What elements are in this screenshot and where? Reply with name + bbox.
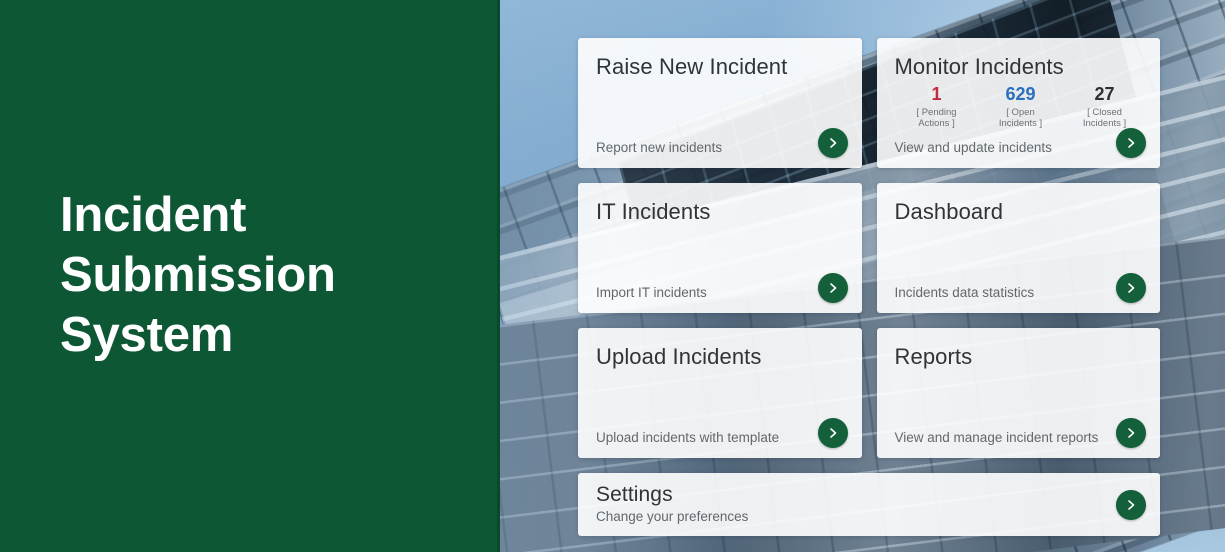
card-title: Raise New Incident	[596, 54, 844, 79]
card-action-button[interactable]	[818, 273, 848, 303]
stat-label: [ Pending Actions ]	[895, 107, 979, 129]
card-title: IT Incidents	[596, 199, 844, 224]
card-action-button[interactable]	[818, 128, 848, 158]
card-subtitle: Change your preferences	[596, 509, 1142, 525]
card-subtitle: Upload incidents with template	[596, 430, 804, 446]
card-footer: View and update incidents	[895, 140, 1103, 156]
card-row: Settings Change your preferences	[578, 473, 1160, 536]
card-title: Upload Incidents	[596, 344, 844, 369]
brand-panel: Incident Submission System	[0, 0, 500, 552]
card-footer: View and manage incident reports	[895, 430, 1103, 446]
stat-label: [ Open Incidents ]	[979, 107, 1063, 129]
card-subtitle: View and update incidents	[895, 140, 1103, 156]
card-action-button[interactable]	[1116, 273, 1146, 303]
card-row: Raise New Incident Report new incidents …	[578, 38, 1160, 168]
incident-stats: 1 [ Pending Actions ] 629 [ Open Inciden…	[895, 85, 1147, 129]
stat-pending-actions: 1 [ Pending Actions ]	[895, 85, 979, 129]
chevron-right-icon	[1124, 136, 1138, 150]
card-it-incidents[interactable]: IT Incidents Import IT incidents	[578, 183, 862, 313]
card-title: Dashboard	[895, 199, 1143, 224]
card-action-button[interactable]	[1116, 490, 1146, 520]
card-upload-incidents[interactable]: Upload Incidents Upload incidents with t…	[578, 328, 862, 458]
card-footer: Incidents data statistics	[895, 285, 1103, 301]
card-subtitle: Incidents data statistics	[895, 285, 1103, 301]
chevron-right-icon	[826, 136, 840, 150]
stat-label: [ Closed Incidents ]	[1063, 107, 1147, 129]
chevron-right-icon	[1124, 498, 1138, 512]
card-footer: Upload incidents with template	[596, 430, 804, 446]
stat-value: 1	[895, 85, 979, 105]
card-monitor-incidents[interactable]: Monitor Incidents 1 [ Pending Actions ] …	[877, 38, 1161, 168]
card-action-button[interactable]	[1116, 128, 1146, 158]
chevron-right-icon	[1124, 426, 1138, 440]
card-settings[interactable]: Settings Change your preferences	[578, 473, 1160, 536]
card-grid: Raise New Incident Report new incidents …	[578, 38, 1160, 551]
card-title: Reports	[895, 344, 1143, 369]
chevron-right-icon	[826, 426, 840, 440]
card-action-button[interactable]	[818, 418, 848, 448]
card-reports[interactable]: Reports View and manage incident reports	[877, 328, 1161, 458]
chevron-right-icon	[826, 281, 840, 295]
card-subtitle: Report new incidents	[596, 140, 804, 156]
stat-value: 629	[979, 85, 1063, 105]
card-row: Upload Incidents Upload incidents with t…	[578, 328, 1160, 458]
card-dashboard[interactable]: Dashboard Incidents data statistics	[877, 183, 1161, 313]
content-panel: Raise New Incident Report new incidents …	[500, 0, 1225, 552]
stat-open-incidents: 629 [ Open Incidents ]	[979, 85, 1063, 129]
stat-closed-incidents: 27 [ Closed Incidents ]	[1063, 85, 1147, 129]
app-root: Incident Submission System Raise New Inc…	[0, 0, 1225, 552]
chevron-right-icon	[1124, 281, 1138, 295]
card-action-button[interactable]	[1116, 418, 1146, 448]
card-subtitle: View and manage incident reports	[895, 430, 1103, 446]
page-title: Incident Submission System	[0, 186, 380, 365]
card-subtitle: Import IT incidents	[596, 285, 804, 301]
stat-value: 27	[1063, 85, 1147, 105]
card-row: IT Incidents Import IT incidents Dashboa…	[578, 183, 1160, 313]
card-title: Monitor Incidents	[895, 54, 1143, 79]
card-title: Settings	[596, 483, 1142, 507]
card-footer: Report new incidents	[596, 140, 804, 156]
card-footer: Import IT incidents	[596, 285, 804, 301]
card-raise-new-incident[interactable]: Raise New Incident Report new incidents	[578, 38, 862, 168]
